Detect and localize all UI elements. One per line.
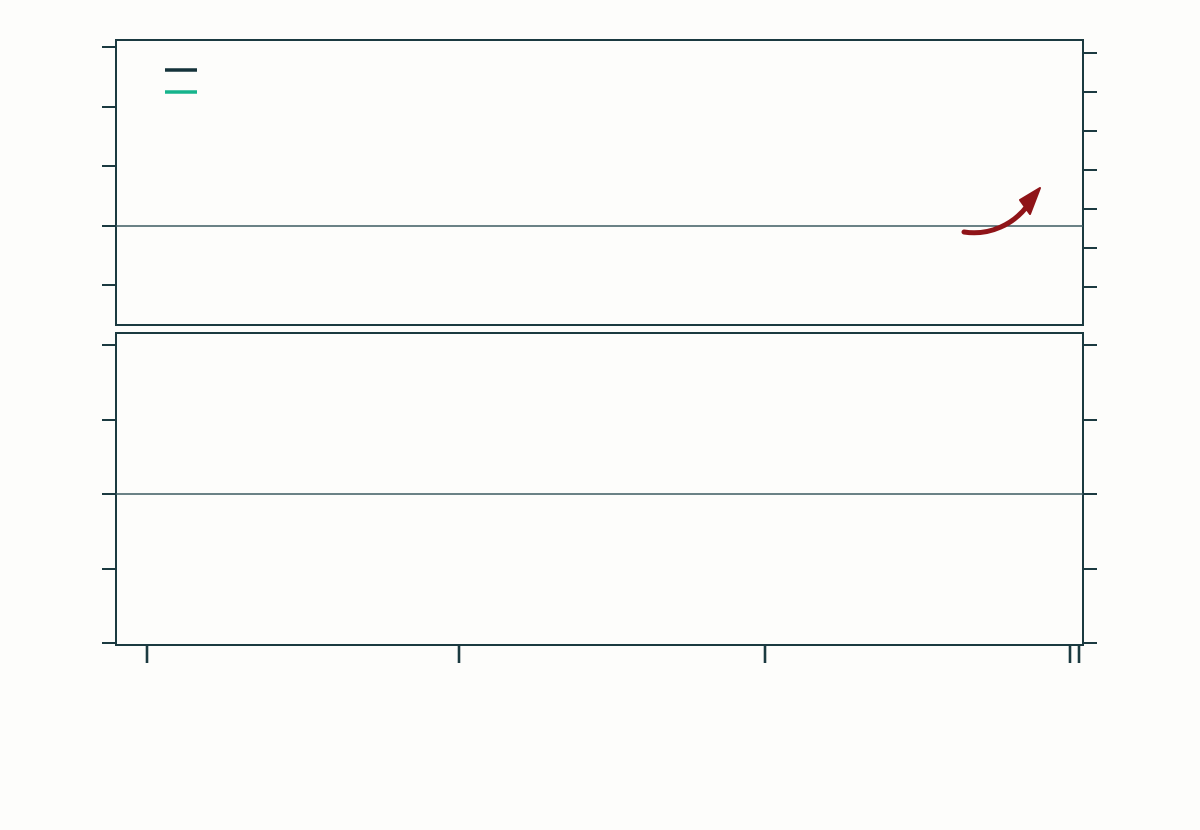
top-panel xyxy=(102,40,1097,325)
top-right-axis xyxy=(1083,53,1097,287)
legend xyxy=(165,70,197,92)
dual-panel-chart xyxy=(0,0,1200,830)
bottom-left-axis xyxy=(102,345,116,643)
bottom-right-axis xyxy=(1083,345,1097,643)
bottom-panel xyxy=(102,333,1097,645)
x-axis xyxy=(147,645,1079,663)
top-panel-frame xyxy=(116,40,1083,325)
top-left-axis xyxy=(102,47,116,285)
bottom-panel-frame xyxy=(116,333,1083,645)
